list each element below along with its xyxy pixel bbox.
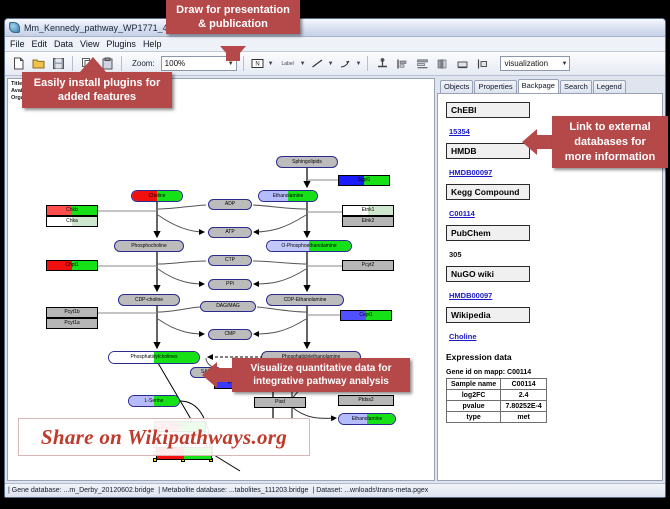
cell-value: 2.4 [501,390,547,401]
node-label: Choline [149,194,166,199]
node-pisd[interactable]: Pisd [254,397,306,408]
table-row: Sample name C00114 [447,379,547,390]
node-etnk1[interactable]: Etnk1 [342,205,394,216]
node-chka[interactable]: Chka [46,216,98,227]
table-row: log2FC 2.4 [447,390,547,401]
node-pcyt2[interactable]: Pcyt2 [342,260,394,271]
node-ctp[interactable]: CTP [208,255,252,266]
callout-share: Share on Wikipathways.org [18,418,310,456]
menu-help[interactable]: Help [143,39,162,49]
distribute-icon[interactable] [414,56,430,72]
node-sphingolipids[interactable]: Sphingolipids [276,156,338,168]
callout-visualize-arrow-icon [202,362,217,388]
node-label: Pcyt1a [64,321,79,326]
toolbar-separator [121,56,122,71]
node-label: CMP [224,332,235,337]
expression-data-title: Expression data [446,352,656,362]
chevron-down-icon[interactable]: ▼ [300,61,306,67]
menu-edit[interactable]: Edit [32,39,48,49]
tab-search[interactable]: Search [560,80,592,93]
node-l-serine-left[interactable]: L-Serine [128,395,180,407]
chevron-down-icon: ▼ [228,61,234,67]
screenshot-root: Mm_Kennedy_pathway_WP1771_45176.gpml Fil… [0,0,670,509]
align-left-icon[interactable] [394,56,410,72]
cell-value: C00114 [501,379,547,390]
node-label: Chpt1 [65,263,78,268]
callout-plugins-arrow-icon [80,57,106,72]
callout-link-arrow-icon [522,129,537,155]
toolbar-separator [72,56,73,71]
node-label: ADP [225,202,235,207]
app-icon [9,22,20,33]
callout-plugins: Easily install plugins for added feature… [22,72,172,108]
node-pcyt1a[interactable]: Pcyt1a [46,318,98,329]
side-tabs: Objects Properties Backpage Search Legen… [437,78,663,93]
db-link-nugowiki[interactable]: HMDB00097 [449,291,492,300]
svg-text:N: N [256,62,260,68]
node-cdp-choline[interactable]: CDP-choline [118,294,180,306]
cell-key: Sample name [447,379,501,390]
zoom-label: Zoom: [132,59,155,68]
node-label: ATP [225,230,234,235]
datanode-icon[interactable]: N [250,56,266,72]
node-sgpl1[interactable]: Sgpl1 [338,175,390,186]
new-file-icon[interactable] [10,56,26,72]
node-label: CDP-choline [135,298,163,303]
node-etnk2[interactable]: Etnk2 [342,216,394,227]
node-label: Chka [66,219,78,224]
table-row: type met [447,412,547,423]
node-cmp[interactable]: CMP [208,329,252,340]
node-label: Pisd [275,400,285,405]
menu-view[interactable]: View [80,39,99,49]
node-label: Pcyt1b [64,310,79,315]
tab-properties[interactable]: Properties [474,80,516,93]
share-text: Share on Wikipathways.org [41,425,287,450]
node-label: Phosphocholine [131,244,167,249]
callout-draw: Draw for presentation & publication [166,0,300,34]
db-value-pubchem: 305 [449,250,462,259]
stack-icon[interactable] [434,56,450,72]
cell-key: log2FC [447,390,501,401]
db-link-kegg[interactable]: C00114 [449,209,475,218]
tab-legend[interactable]: Legend [593,80,626,93]
statusbar: | Gene database: ...m_Derby_20120602.bri… [5,483,665,497]
cell-value: 7.80252E-4 [501,401,547,412]
node-label: Etnk2 [362,219,375,224]
cell-key: type [447,412,501,423]
gene-id-label: Gene id on mapp: C00114 [446,369,656,376]
node-chkb[interactable]: Chkb [46,205,98,216]
db-header-wikipedia: Wikipedia [446,307,530,323]
node-ppi[interactable]: PPi [208,279,252,290]
node-label: L-Serine [145,399,164,404]
node-ethanolamine-bottom[interactable]: Ethanolamine [338,413,396,425]
visualization-combobox[interactable]: visualization ▼ [500,56,570,71]
interaction-tool-icon[interactable] [338,56,354,72]
status-metabolite-database: | Metabolite database: ...tabolites_1112… [158,487,308,494]
toolbar-separator [367,56,368,71]
db-header-nugowiki: NuGO wiki [446,266,530,282]
zoom-value: 100% [165,59,185,68]
callout-visualize: Visualize quantitative data for integrat… [232,358,410,392]
anchor-icon[interactable] [374,56,390,72]
chevron-down-icon[interactable]: ▼ [268,61,274,67]
menubar: File Edit Data View Plugins Help [5,37,665,52]
node-label: Phosphatidylcholines [131,355,178,360]
node-ptdss2[interactable]: Ptdss2 [338,395,394,406]
node-pcyt1b[interactable]: Pcyt1b [46,307,98,318]
chevron-down-icon[interactable]: ▼ [356,61,362,67]
callout-draw-arrow-icon [220,46,246,61]
visualization-value: visualization [504,59,548,68]
db-link-hmdb[interactable]: HMDB00097 [449,168,492,177]
line-tool-icon[interactable] [310,56,326,72]
db-header-kegg: Kegg Compound [446,184,530,200]
callout-link: Link to external databases for more info… [552,116,668,168]
node-o-phosphoethanolamine[interactable]: O-Phosphoethanolamine [266,240,352,252]
save-file-icon[interactable] [50,56,66,72]
chevron-down-icon: ▼ [562,61,568,67]
node-label: Sphingolipids [292,160,322,165]
node-label: CDP-Ethanolamine [284,298,327,303]
node-cept1[interactable]: Cept1 [340,310,392,321]
node-label: Etnk1 [362,208,375,213]
menu-plugins[interactable]: Plugins [106,39,136,49]
node-cdp-ethanolamine[interactable]: CDP-Ethanolamine [266,294,344,306]
status-dataset: | Dataset: ...wnloads\trans-meta.pgex [312,487,428,494]
status-gene-database: | Gene database: ...m_Derby_20120602.bri… [8,487,154,494]
menu-file[interactable]: File [10,39,25,49]
node-label: Ethanolamine [352,417,383,422]
node-label: Ptdss2 [358,398,373,403]
db-header-hmdb: HMDB [446,143,530,159]
tab-backpage[interactable]: Backpage [518,79,559,93]
db-header-chebi: ChEBI [446,102,530,118]
db-header-pubchem: PubChem [446,225,530,241]
node-label: Cept1 [359,313,372,318]
node-label: PPi [226,282,234,287]
node-phosphocholine[interactable]: Phosphocholine [114,240,184,252]
ungroup-icon[interactable] [474,56,490,72]
label-tool-icon[interactable]: Label [278,56,298,72]
node-label: DAG/MAG [216,304,240,309]
db-link-chebi[interactable]: 15354 [449,127,470,136]
node-chpt1[interactable]: Chpt1 [46,260,98,271]
node-adp[interactable]: ADP [208,199,252,210]
tab-objects[interactable]: Objects [440,80,473,93]
table-row: pvalue 7.80252E-4 [447,401,547,412]
node-label: Pcyt2 [362,263,375,268]
node-choline-top[interactable]: Choline [131,190,183,202]
open-file-icon[interactable] [30,56,46,72]
cell-key: pvalue [447,401,501,412]
node-label: Ethanolamine [273,194,304,199]
window-titlebar: Mm_Kennedy_pathway_WP1771_45176.gpml [5,19,665,37]
node-atp[interactable]: ATP [208,227,252,238]
group-icon[interactable] [454,56,470,72]
node-phosphatidylcholines[interactable]: Phosphatidylcholines [108,351,200,364]
node-label: Sgpl1 [358,178,371,183]
node-dagmag[interactable]: DAG/MAG [200,301,256,312]
node-ethanolamine-top[interactable]: Ethanolamine [258,190,318,202]
node-label: CTP [225,258,235,263]
chevron-down-icon[interactable]: ▼ [328,61,334,67]
menu-data[interactable]: Data [54,39,73,49]
node-label: Chkb [66,208,78,213]
db-link-wikipedia[interactable]: Choline [449,332,477,341]
node-label: O-Phosphoethanolamine [281,244,336,249]
cell-value: met [501,412,547,423]
expression-table: Sample name C00114 log2FC 2.4 pvalue 7.8… [446,378,547,423]
